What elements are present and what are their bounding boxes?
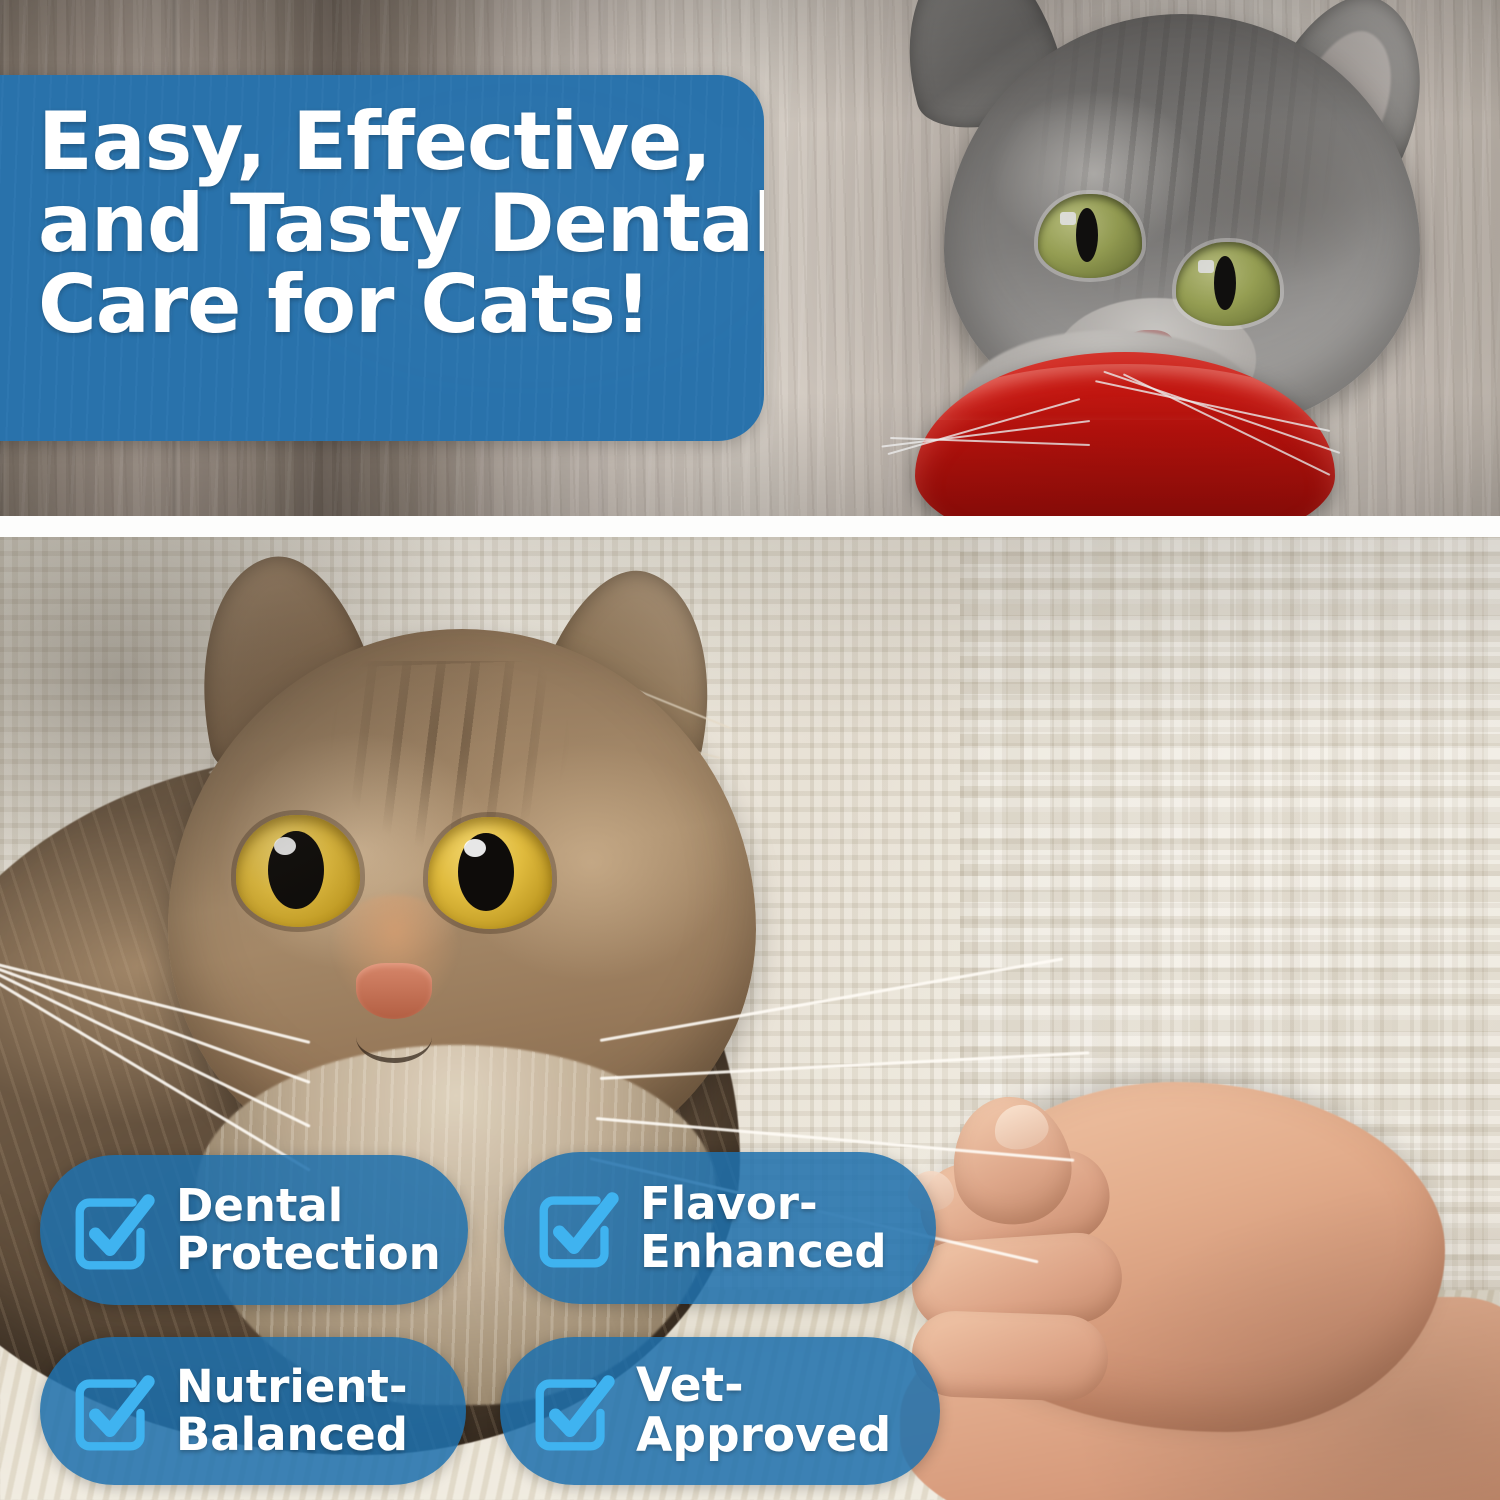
feature-badge-nutrient-balanced[interactable]: Nutrient- Balanced bbox=[40, 1337, 466, 1485]
panel-divider bbox=[0, 516, 1500, 537]
checkbox-checked-icon bbox=[66, 1181, 164, 1279]
headline-banner: Easy, Effective, and Tasty Dental Care f… bbox=[0, 75, 764, 441]
checkbox-checked-icon bbox=[530, 1179, 628, 1277]
page-title: Easy, Effective, and Tasty Dental Care f… bbox=[38, 101, 710, 346]
headline-line-1: Easy, Effective, bbox=[38, 101, 710, 183]
feature-badge-dental-protection[interactable]: Dental Protection bbox=[40, 1155, 468, 1305]
feature-badge-vet-approved[interactable]: Vet-Approved bbox=[500, 1337, 940, 1485]
feature-badge-label: Flavor- Enhanced bbox=[640, 1180, 887, 1275]
feature-badge-flavor-enhanced[interactable]: Flavor- Enhanced bbox=[504, 1152, 936, 1304]
checkbox-checked-icon bbox=[526, 1362, 624, 1460]
checkbox-checked-icon bbox=[66, 1362, 164, 1460]
headline-line-3: Care for Cats! bbox=[38, 264, 710, 346]
headline-line-2: and Tasty Dental bbox=[38, 183, 710, 265]
feature-badge-label: Vet-Approved bbox=[636, 1361, 906, 1461]
feature-badge-label: Dental Protection bbox=[176, 1182, 441, 1277]
top-photo-grey-cat-with-bowl: Easy, Effective, and Tasty Dental Care f… bbox=[0, 0, 1500, 516]
feature-badge-label: Nutrient- Balanced bbox=[176, 1363, 408, 1458]
product-infographic: Easy, Effective, and Tasty Dental Care f… bbox=[0, 0, 1500, 1500]
